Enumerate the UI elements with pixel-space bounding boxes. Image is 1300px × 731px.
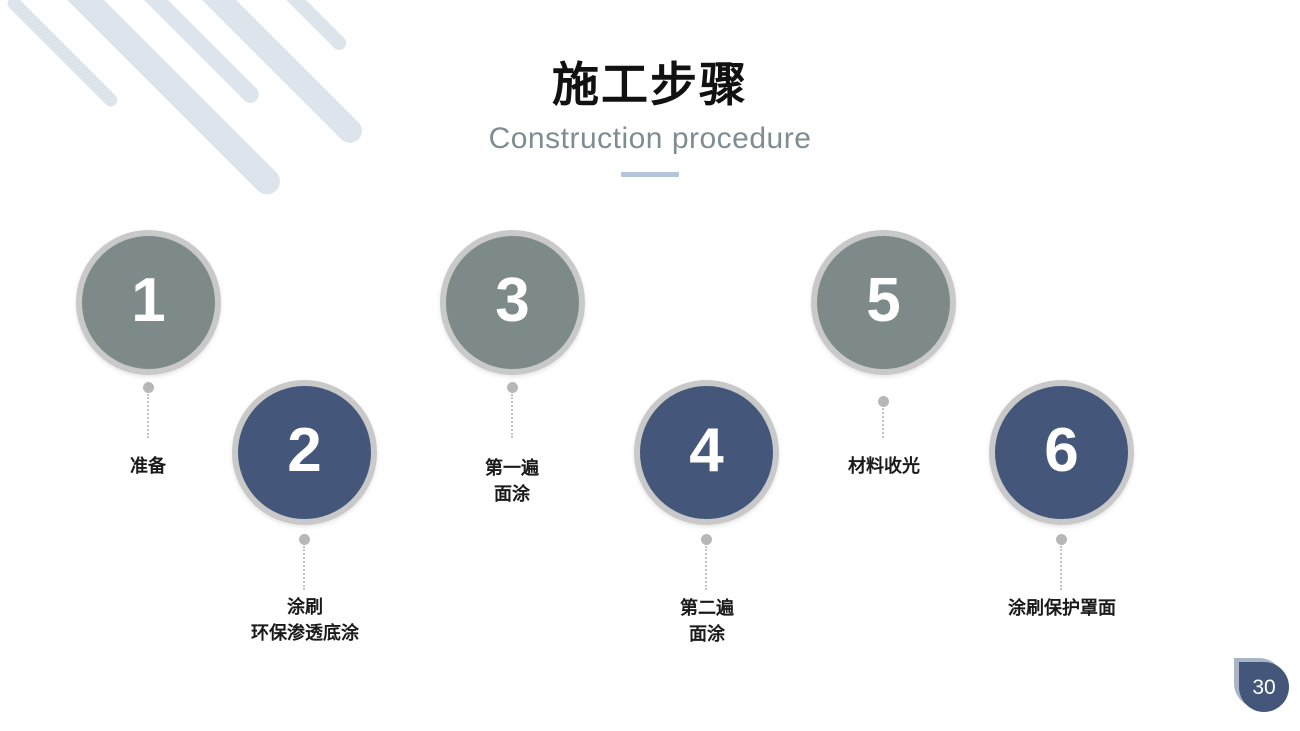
page-title: 施工步骤: [0, 58, 1300, 112]
step-circle-6[interactable]: 6: [989, 380, 1134, 525]
diagonal-stripe-5: [240, 0, 349, 53]
step-number-5: 5: [866, 270, 900, 332]
step-connector-5: [877, 396, 889, 438]
page-number-badge: 30: [1234, 658, 1290, 714]
connector-dotted-line-5: [882, 408, 884, 438]
connector-dotted-line-2: [303, 546, 305, 590]
step-number-2: 2: [287, 420, 321, 482]
step-circle-2[interactable]: 2: [232, 380, 377, 525]
connector-dot-5: [878, 396, 889, 407]
step-circle-4[interactable]: 4: [634, 380, 779, 525]
step-label-1: 准备: [48, 453, 248, 479]
slide-canvas: 施工步骤 Construction procedure 1准备2涂刷 环保渗透底…: [0, 0, 1300, 731]
connector-dotted-line-3: [511, 394, 513, 438]
step-label-4: 第二遍 面涂: [607, 595, 807, 647]
step-number-3: 3: [495, 270, 529, 332]
step-circle-3[interactable]: 3: [440, 230, 585, 375]
connector-dot-3: [507, 382, 518, 393]
title-block: 施工步骤 Construction procedure: [0, 58, 1300, 177]
step-connector-3: [506, 382, 518, 438]
page-number-text: 30: [1252, 677, 1275, 698]
title-underline-rule: [621, 172, 679, 177]
step-label-2: 涂刷 环保渗透底涂: [205, 594, 405, 646]
page-subtitle: Construction procedure: [0, 121, 1300, 157]
step-connector-1: [142, 382, 154, 438]
step-number-1: 1: [131, 270, 165, 332]
step-label-6: 涂刷保护罩面: [962, 595, 1162, 621]
step-label-3: 第一遍 面涂: [412, 455, 612, 507]
step-circle-1[interactable]: 1: [76, 230, 221, 375]
connector-dotted-line-1: [147, 394, 149, 438]
connector-dot-4: [701, 534, 712, 545]
step-number-6: 6: [1044, 420, 1078, 482]
connector-dot-1: [143, 382, 154, 393]
step-connector-6: [1055, 534, 1067, 590]
step-circle-5[interactable]: 5: [811, 230, 956, 375]
connector-dotted-line-6: [1060, 546, 1062, 590]
page-badge-shape: 30: [1239, 662, 1289, 712]
step-connector-2: [298, 534, 310, 590]
step-number-4: 4: [689, 420, 723, 482]
connector-dotted-line-4: [705, 546, 707, 590]
connector-dot-2: [299, 534, 310, 545]
step-connector-4: [700, 534, 712, 590]
connector-dot-6: [1056, 534, 1067, 545]
step-label-5: 材料收光: [784, 453, 984, 479]
